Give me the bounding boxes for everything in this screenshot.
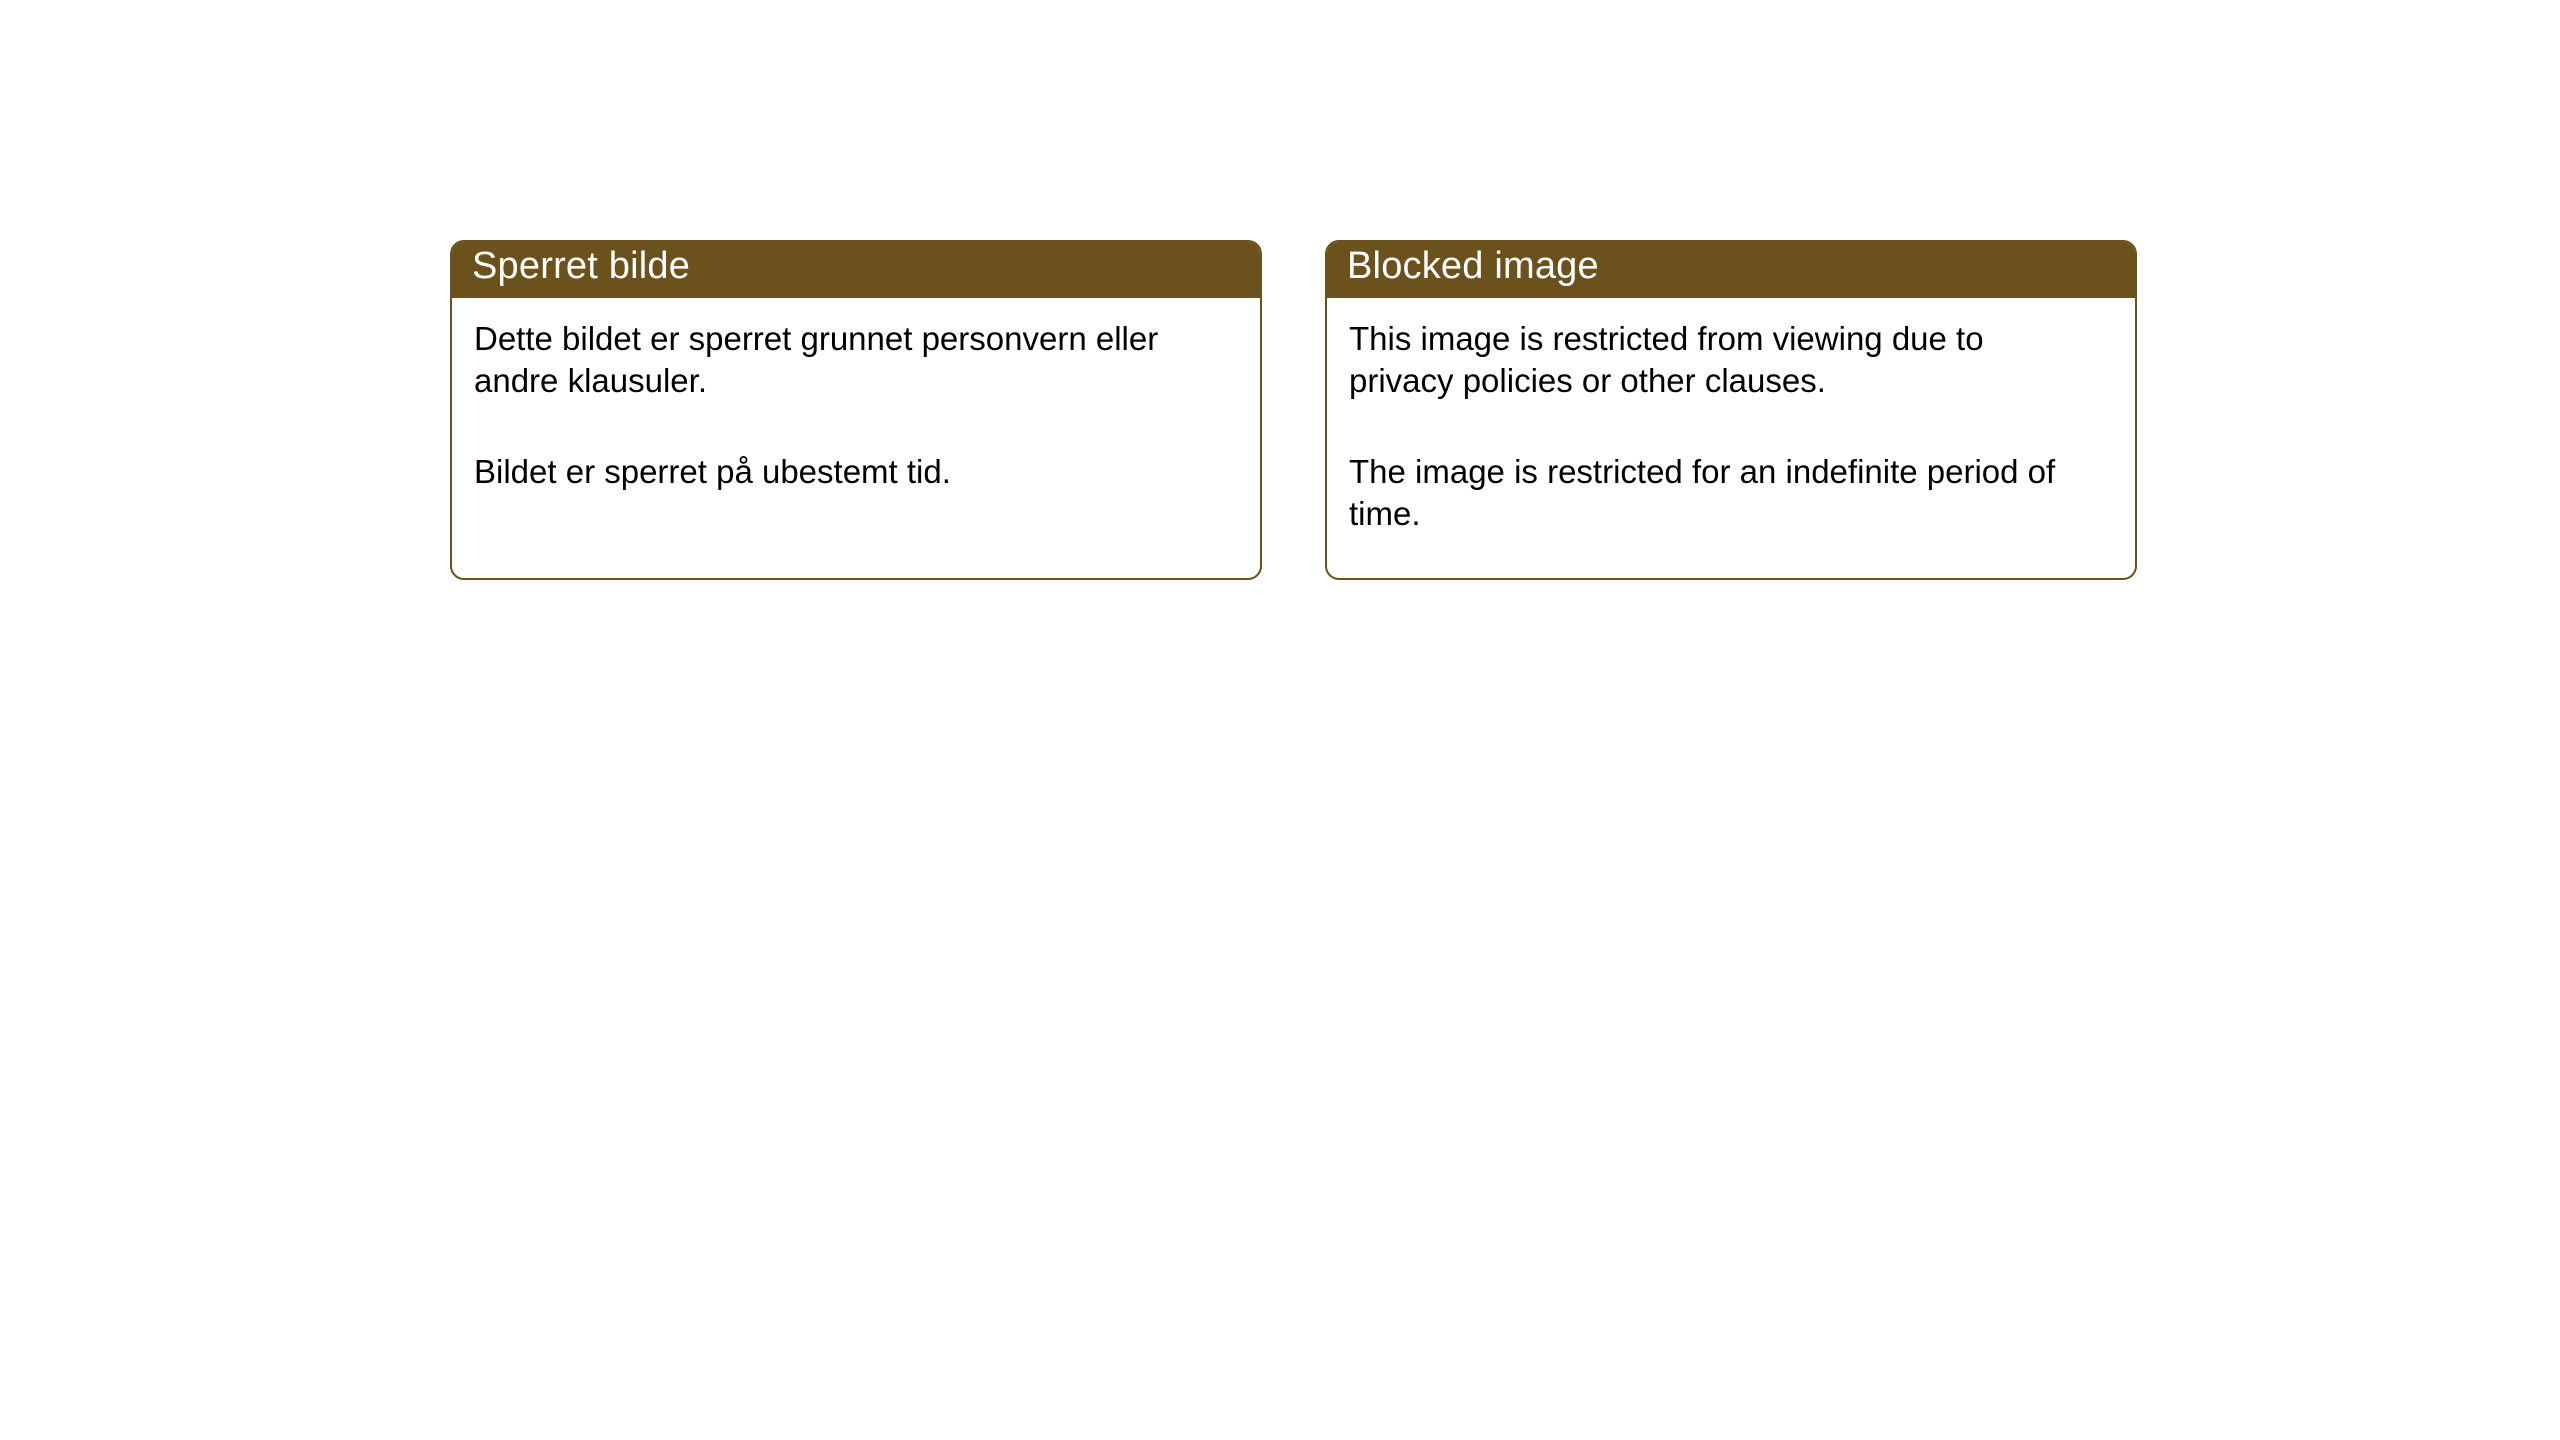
blocked-image-notice-group: Sperret bilde Dette bildet er sperret gr… xyxy=(450,240,2137,580)
notice-card-norwegian: Sperret bilde Dette bildet er sperret gr… xyxy=(450,240,1262,580)
notice-paragraph-duration-norwegian: Bildet er sperret på ubestemt tid. xyxy=(474,451,1214,493)
notice-card-english: Blocked image This image is restricted f… xyxy=(1325,240,2137,580)
notice-title-english: Blocked image xyxy=(1347,247,1599,287)
notice-paragraph-duration-english: The image is restricted for an indefinit… xyxy=(1349,451,2089,534)
notice-header-norwegian: Sperret bilde xyxy=(450,240,1262,298)
notice-header-english: Blocked image xyxy=(1325,240,2137,298)
notice-paragraph-reason-norwegian: Dette bildet er sperret grunnet personve… xyxy=(474,318,1214,401)
page-canvas: Sperret bilde Dette bildet er sperret gr… xyxy=(0,0,2560,1440)
notice-body-english: This image is restricted from viewing du… xyxy=(1327,298,2135,578)
notice-title-norwegian: Sperret bilde xyxy=(472,247,690,287)
notice-paragraph-reason-english: This image is restricted from viewing du… xyxy=(1349,318,2089,401)
notice-body-norwegian: Dette bildet er sperret grunnet personve… xyxy=(452,298,1260,578)
